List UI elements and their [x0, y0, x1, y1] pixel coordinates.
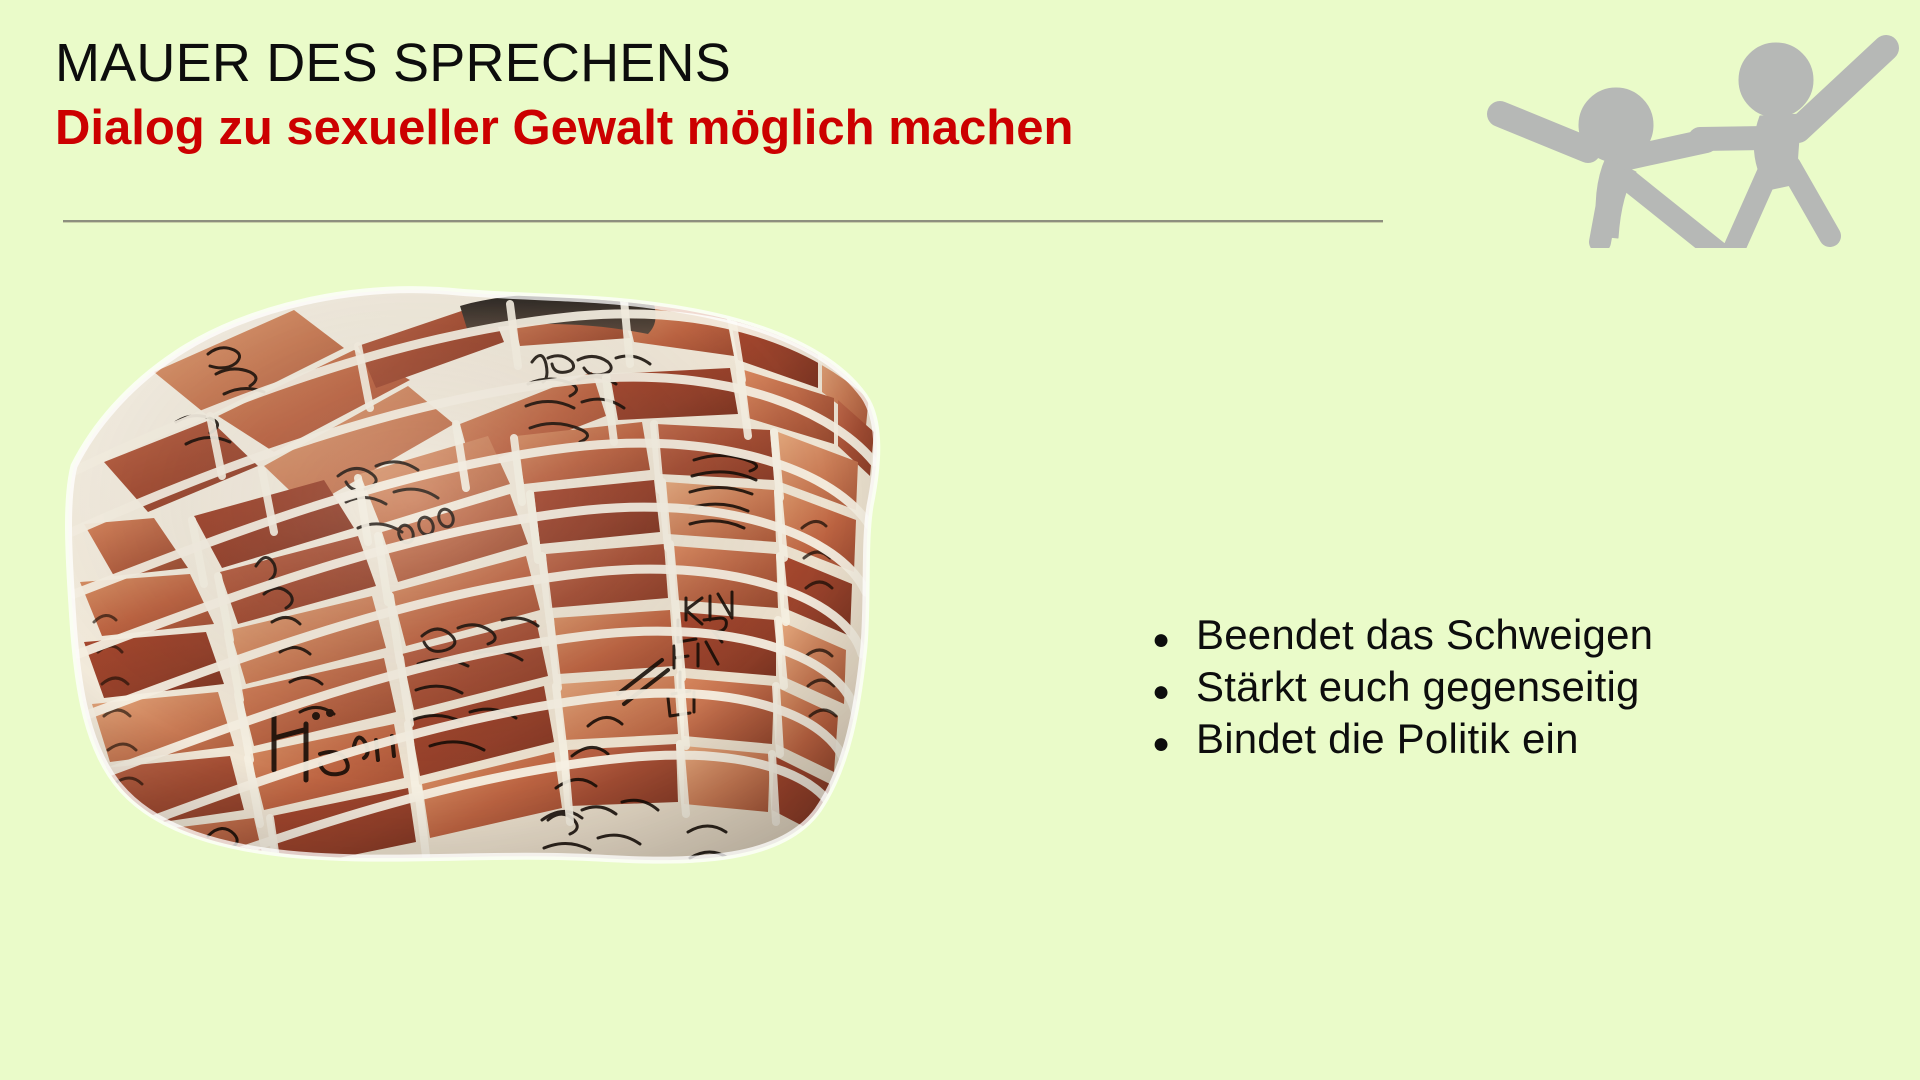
slide-header: MAUER DES SPRECHENS Dialog zu sexueller … — [0, 0, 1920, 240]
two-celebrating-people-icon — [1478, 8, 1918, 248]
bullet-marker-icon: ● — [1152, 670, 1196, 714]
list-item-label: Beendet das Schweigen — [1196, 612, 1653, 658]
page-title: MAUER DES SPRECHENS — [55, 36, 731, 90]
list-item: ● Bindet die Politik ein — [1152, 716, 1852, 764]
bullet-marker-icon: ● — [1152, 722, 1196, 766]
list-item-label: Bindet die Politik ein — [1196, 716, 1579, 762]
list-item: ● Beendet das Schweigen — [1152, 612, 1852, 660]
key-messages-list: ● Beendet das Schweigen ● Stärkt euch ge… — [1152, 612, 1852, 768]
header-divider — [63, 220, 1383, 223]
wall-of-speaking-photo — [58, 276, 908, 866]
page-subtitle: Dialog zu sexueller Gewalt möglich mache… — [55, 104, 1073, 153]
bullet-marker-icon: ● — [1152, 618, 1196, 662]
list-item-label: Stärkt euch gegenseitig — [1196, 664, 1640, 710]
list-item: ● Stärkt euch gegenseitig — [1152, 664, 1852, 712]
